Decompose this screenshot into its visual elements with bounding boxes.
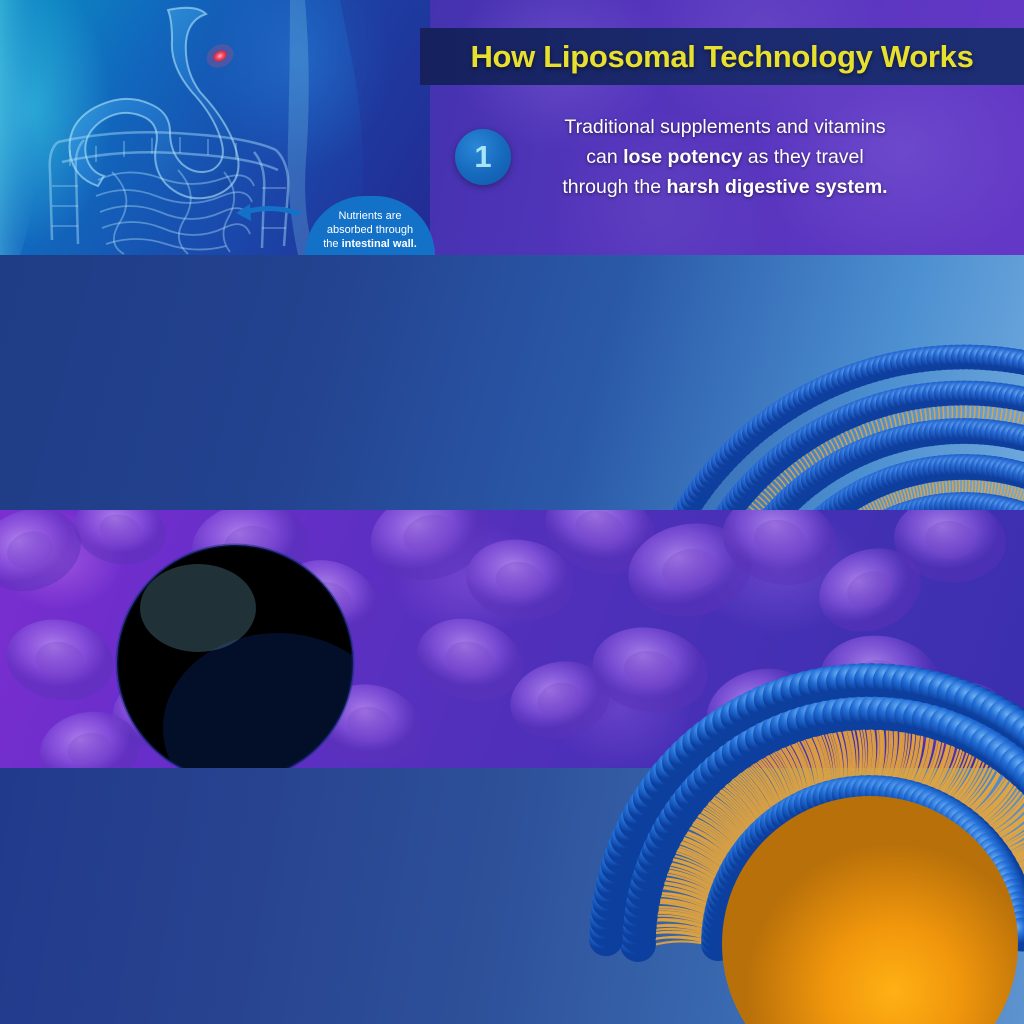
liposome-sphere (110, 538, 360, 768)
step-band-2: 2 However, our vitamins and supplementsa… (0, 255, 1024, 510)
step-1-number-badge: 1 (455, 129, 511, 185)
infographic-root: How Liposomal Technology Works 1 Traditi… (0, 0, 1024, 1024)
liposome-cutaway-nutrient-core (520, 554, 1024, 1024)
step-1: 1 Traditional supplements and vitaminsca… (455, 112, 925, 202)
step-1-text: Traditional supplements and vitaminscan … (525, 112, 925, 202)
phospholipid-bilayer-arc (404, 255, 1024, 510)
page-title: How Liposomal Technology Works (470, 39, 973, 75)
step-band-1: How Liposomal Technology Works 1 Traditi… (0, 0, 1024, 255)
callout-1-text: Nutrients areabsorbed throughthe intesti… (323, 209, 417, 251)
page-title-bar: How Liposomal Technology Works (420, 28, 1024, 85)
